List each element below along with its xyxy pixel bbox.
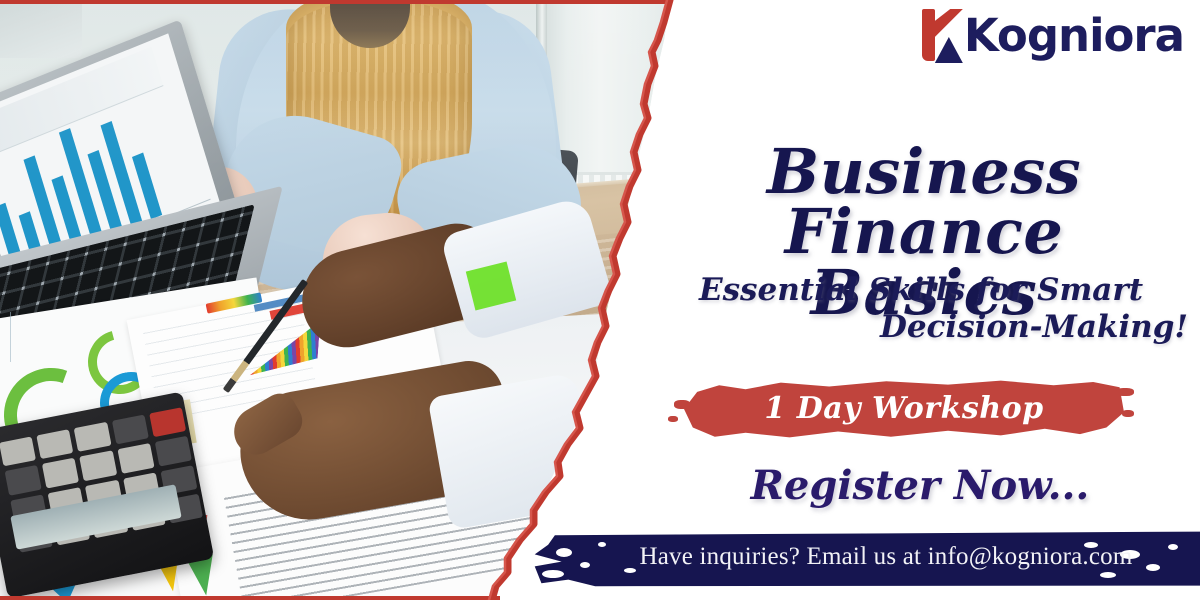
poster-content: Business Finance Basics Essential Skills… bbox=[620, 0, 1200, 600]
subtitle-line-1: Essential Skills for Smart bbox=[642, 272, 1200, 309]
workshop-duration-badge: 1 Day Workshop bbox=[684, 376, 1124, 442]
page-subtitle: Essential Skills for Smart Decision-Maki… bbox=[642, 272, 1200, 345]
badge-speck bbox=[668, 416, 678, 422]
hero-photo bbox=[0, 0, 690, 600]
register-now-cta[interactable]: Register Now... bbox=[660, 462, 1180, 509]
badge-label: 1 Day Workshop bbox=[684, 376, 1124, 442]
colleague-sleeve-lower bbox=[428, 372, 599, 530]
wall-panel bbox=[0, 0, 82, 58]
title-line-1: Business Finance bbox=[767, 135, 1081, 269]
contact-footer: Have inquiries? Email us at info@kognior… bbox=[528, 528, 1200, 588]
contact-email-text[interactable]: Have inquiries? Email us at info@kognior… bbox=[528, 528, 1200, 588]
event-poster: Kogniora Business Finance Basics Essenti… bbox=[0, 0, 1200, 600]
subtitle-line-2: Decision-Making! bbox=[642, 309, 1200, 346]
